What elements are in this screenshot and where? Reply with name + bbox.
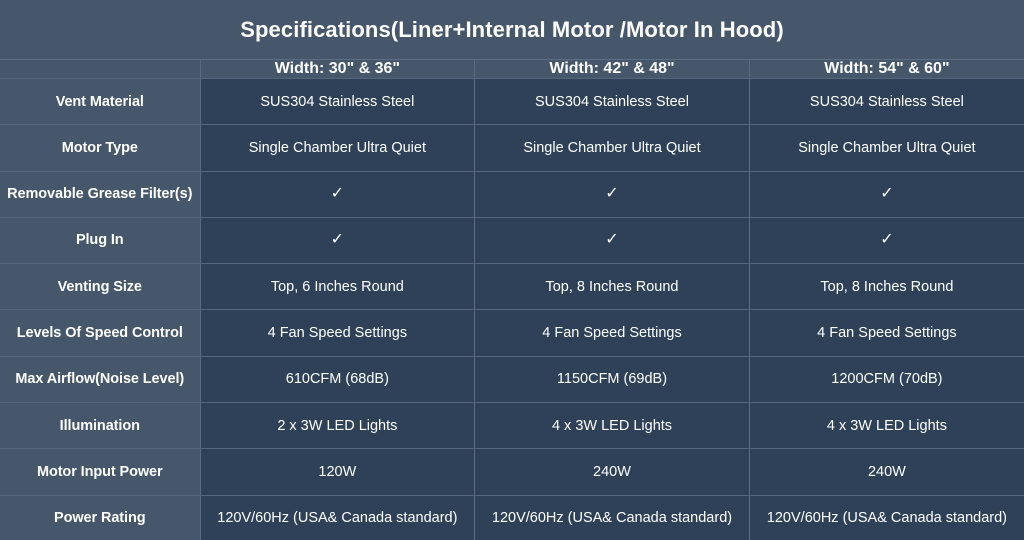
cell-venting-size-col3: Top, 8 Inches Round — [749, 264, 1024, 310]
cell-power-rating-col2: 120V/60Hz (USA& Canada standard) — [475, 495, 750, 540]
row-label-plug-in: Plug In — [0, 217, 200, 263]
table-row: Power Rating 120V/60Hz (USA& Canada stan… — [0, 495, 1024, 540]
cell-illumination-col2: 4 x 3W LED Lights — [475, 402, 750, 448]
corner-header-cell — [0, 60, 200, 79]
row-label-power-rating: Power Rating — [0, 495, 200, 540]
cell-motor-type-col1: Single Chamber Ultra Quiet — [200, 125, 475, 171]
cell-speed-control-col1: 4 Fan Speed Settings — [200, 310, 475, 356]
table-row: Motor Type Single Chamber Ultra Quiet Si… — [0, 125, 1024, 171]
cell-max-airflow-col2: 1150CFM (69dB) — [475, 356, 750, 402]
table-row: Illumination 2 x 3W LED Lights 4 x 3W LE… — [0, 402, 1024, 448]
row-label-removable-grease-filters: Removable Grease Filter(s) — [0, 171, 200, 217]
row-label-venting-size: Venting Size — [0, 264, 200, 310]
cell-motor-type-col2: Single Chamber Ultra Quiet — [475, 125, 750, 171]
table-header: Width: 30" & 36" Width: 42" & 48" Width:… — [0, 60, 1024, 79]
table-body: Vent Material SUS304 Stainless Steel SUS… — [0, 79, 1024, 540]
table-row: Venting Size Top, 6 Inches Round Top, 8 … — [0, 264, 1024, 310]
cell-max-airflow-col1: 610CFM (68dB) — [200, 356, 475, 402]
row-label-motor-type: Motor Type — [0, 125, 200, 171]
table-row: Levels Of Speed Control 4 Fan Speed Sett… — [0, 310, 1024, 356]
cell-max-airflow-col3: 1200CFM (70dB) — [749, 356, 1024, 402]
column-header-width-54-60: Width: 54" & 60" — [749, 60, 1024, 79]
row-label-illumination: Illumination — [0, 402, 200, 448]
table-row: Max Airflow(Noise Level) 610CFM (68dB) 1… — [0, 356, 1024, 402]
check-icon-plug-in-col2: ✓ — [475, 217, 750, 263]
row-label-levels-of-speed-control: Levels Of Speed Control — [0, 310, 200, 356]
cell-speed-control-col2: 4 Fan Speed Settings — [475, 310, 750, 356]
column-header-width-30-36: Width: 30" & 36" — [200, 60, 475, 79]
specifications-table: Width: 30" & 36" Width: 42" & 48" Width:… — [0, 60, 1024, 540]
panel-title-bar: Specifications(Liner+Internal Motor /Mot… — [0, 0, 1024, 60]
cell-venting-size-col2: Top, 8 Inches Round — [475, 264, 750, 310]
header-row: Width: 30" & 36" Width: 42" & 48" Width:… — [0, 60, 1024, 79]
cell-vent-material-col2: SUS304 Stainless Steel — [475, 79, 750, 125]
table-row: Plug In ✓ ✓ ✓ — [0, 217, 1024, 263]
cell-motor-type-col3: Single Chamber Ultra Quiet — [749, 125, 1024, 171]
check-icon-grease-filters-col2: ✓ — [475, 171, 750, 217]
table-row: Motor Input Power 120W 240W 240W — [0, 449, 1024, 495]
cell-illumination-col1: 2 x 3W LED Lights — [200, 402, 475, 448]
check-icon-grease-filters-col1: ✓ — [200, 171, 475, 217]
cell-motor-input-power-col1: 120W — [200, 449, 475, 495]
row-label-motor-input-power: Motor Input Power — [0, 449, 200, 495]
row-label-vent-material: Vent Material — [0, 79, 200, 125]
check-icon-plug-in-col1: ✓ — [200, 217, 475, 263]
cell-power-rating-col1: 120V/60Hz (USA& Canada standard) — [200, 495, 475, 540]
cell-illumination-col3: 4 x 3W LED Lights — [749, 402, 1024, 448]
cell-speed-control-col3: 4 Fan Speed Settings — [749, 310, 1024, 356]
row-label-max-airflow: Max Airflow(Noise Level) — [0, 356, 200, 402]
check-icon-grease-filters-col3: ✓ — [749, 171, 1024, 217]
cell-venting-size-col1: Top, 6 Inches Round — [200, 264, 475, 310]
table-row: Removable Grease Filter(s) ✓ ✓ ✓ — [0, 171, 1024, 217]
specifications-panel: Specifications(Liner+Internal Motor /Mot… — [0, 0, 1024, 540]
cell-power-rating-col3: 120V/60Hz (USA& Canada standard) — [749, 495, 1024, 540]
table-row: Vent Material SUS304 Stainless Steel SUS… — [0, 79, 1024, 125]
cell-vent-material-col3: SUS304 Stainless Steel — [749, 79, 1024, 125]
cell-vent-material-col1: SUS304 Stainless Steel — [200, 79, 475, 125]
cell-motor-input-power-col2: 240W — [475, 449, 750, 495]
check-icon-plug-in-col3: ✓ — [749, 217, 1024, 263]
page-title: Specifications(Liner+Internal Motor /Mot… — [240, 17, 784, 43]
cell-motor-input-power-col3: 240W — [749, 449, 1024, 495]
column-header-width-42-48: Width: 42" & 48" — [475, 60, 750, 79]
